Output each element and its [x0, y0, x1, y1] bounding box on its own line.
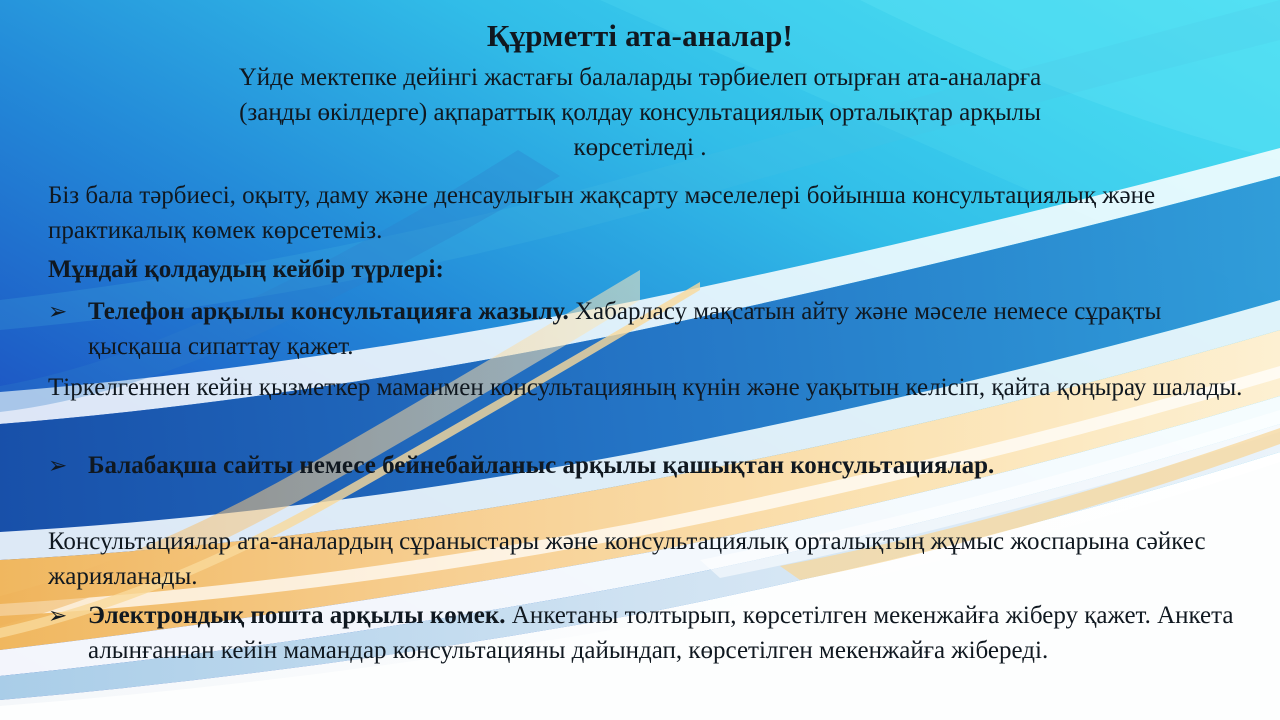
list-item: ➢ Электрондық пошта арқылы көмек. Анкета… — [48, 598, 1258, 668]
paragraph-1: Біз бала тәрбиесі, оқыту, даму және денс… — [48, 178, 1248, 248]
bullet-text: Балабақша сайты немесе бейнебайланыс арқ… — [88, 448, 1258, 483]
bullet-lead: Электрондық пошта арқылы көмек. — [88, 602, 506, 629]
slide-content: Құрметті ата-аналар! Үйде мектепке дейін… — [0, 0, 1280, 720]
list-item: ➢ Телефон арқылы консультацияға жазылу. … — [48, 294, 1258, 364]
intro-line-1: Үйде мектепке дейінгі жастағы балаларды … — [64, 60, 1216, 95]
slide: Құрметті ата-аналар! Үйде мектепке дейін… — [0, 0, 1280, 720]
arrowhead-bullet-icon: ➢ — [48, 294, 82, 329]
paragraph-3: Консультациялар ата-аналардың сұраныстар… — [48, 524, 1248, 594]
bullet-text: Телефон арқылы консультацияға жазылу. Ха… — [88, 294, 1258, 364]
intro-line-3: көрсетіледі . — [64, 130, 1216, 165]
arrowhead-bullet-icon: ➢ — [48, 448, 82, 483]
list-item: ➢ Балабақша сайты немесе бейнебайланыс а… — [48, 448, 1258, 483]
heading-support-types: Мұндай қолдаудың кейбір түрлері: — [48, 252, 1248, 287]
bullet-text: Электрондық пошта арқылы көмек. Анкетаны… — [88, 598, 1258, 668]
page-title: Құрметті ата-аналар! — [0, 18, 1280, 54]
bullet-lead: Балабақша сайты немесе бейнебайланыс арқ… — [88, 452, 994, 479]
arrowhead-bullet-icon: ➢ — [48, 598, 82, 633]
intro-block: Үйде мектепке дейінгі жастағы балаларды … — [64, 60, 1216, 165]
intro-line-2: (заңды өкілдерге) ақпараттық қолдау конс… — [64, 95, 1216, 130]
paragraph-2: Тіркелгеннен кейін қызметкер маманмен ко… — [48, 370, 1248, 405]
bullet-lead: Телефон арқылы консультацияға жазылу. — [88, 298, 569, 325]
